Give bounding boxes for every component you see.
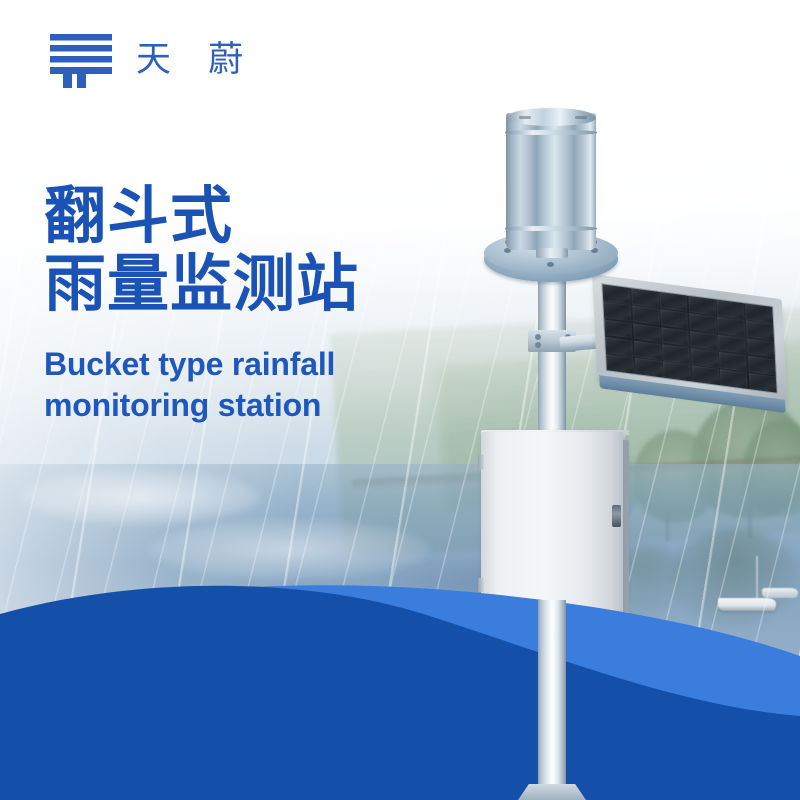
- solar-cell: [718, 334, 746, 354]
- cabinet-hinge: [478, 578, 484, 592]
- solar-cell: [631, 288, 659, 308]
- solar-cell: [719, 352, 747, 372]
- solar-cell: [603, 302, 631, 322]
- rain-gauge-ring: [505, 226, 597, 231]
- solar-cell: [745, 303, 773, 323]
- clamp-bolt: [535, 334, 541, 340]
- solar-cell: [746, 321, 774, 341]
- solar-cell: [749, 373, 777, 393]
- solar-cell: [690, 331, 718, 351]
- solar-cell: [688, 296, 716, 316]
- rain-gauge-ring: [505, 130, 597, 135]
- mounting-pole-lower: [538, 600, 566, 800]
- pole-top-collar: [536, 248, 568, 258]
- solar-cell: [604, 319, 632, 339]
- solar-cell: [606, 354, 634, 374]
- solar-cell: [692, 366, 720, 386]
- product-poster: 天 蔚 翻斗式 雨量监测站 Bucket type rainfall monit…: [0, 0, 800, 800]
- solar-cell: [660, 309, 688, 329]
- solar-cell: [661, 327, 689, 347]
- solar-cell: [717, 300, 745, 320]
- plate-bolt: [547, 262, 554, 267]
- cabinet-hinge: [478, 455, 484, 469]
- control-cabinet[interactable]: 气象环境监测站: [481, 432, 623, 617]
- solar-cell: [634, 341, 662, 361]
- solar-cell: [662, 344, 690, 364]
- solar-panel: [592, 274, 787, 404]
- solar-cell: [663, 362, 691, 382]
- solar-cell: [747, 338, 775, 358]
- solar-cell: [720, 369, 748, 389]
- solar-cell: [605, 337, 633, 357]
- cabinet-lock-handle[interactable]: [612, 505, 621, 527]
- rain-gauge-vent-slot: [519, 116, 531, 119]
- solar-cell: [689, 313, 717, 333]
- solar-cell: [748, 356, 776, 376]
- solar-cell: [635, 358, 663, 378]
- solar-cell: [660, 292, 688, 312]
- clamp-bolt: [535, 342, 541, 348]
- rain-gauge-vent-slot: [575, 116, 587, 119]
- pole-base-foot: [518, 784, 586, 800]
- solar-cell: [632, 306, 660, 326]
- solar-cell: [691, 348, 719, 368]
- weather-station-product: 气象环境监测站: [0, 0, 800, 800]
- solar-cell: [718, 317, 746, 337]
- solar-cell: [602, 284, 630, 304]
- solar-cell: [633, 323, 661, 343]
